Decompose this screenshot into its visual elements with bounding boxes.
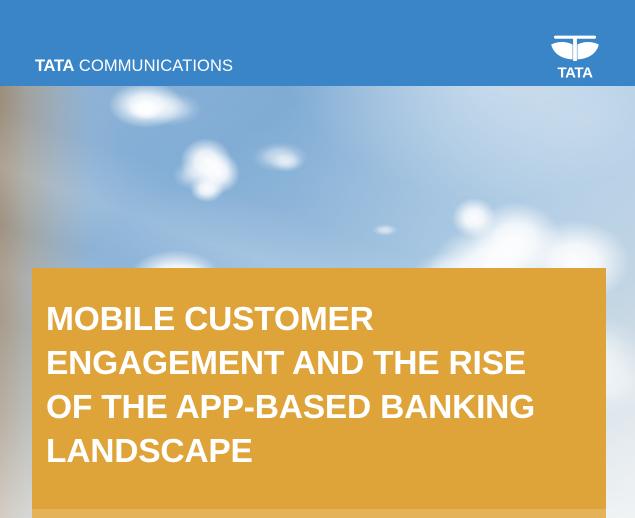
cloud xyxy=(452,198,496,238)
brand-header-bar: TATA COMMUNICATIONS TATA xyxy=(0,0,635,86)
brand-wordmark-communications: COMMUNICATIONS xyxy=(79,57,233,75)
cloud xyxy=(190,176,224,202)
brand-wordmark-tata: TATA xyxy=(35,57,74,75)
page-title: MOBILE CUSTOMER ENGAGEMENT AND THE RISE … xyxy=(46,298,596,474)
page-title-line: MOBILE CUSTOMER xyxy=(46,298,596,342)
page-title-line: LANDSCAPE xyxy=(46,430,596,474)
cloud xyxy=(128,98,162,120)
brand-wordmark: TATA COMMUNICATIONS xyxy=(35,58,233,75)
document-cover-page: TATA COMMUNICATIONS TATA MOBILE CUSTOMER… xyxy=(0,0,635,518)
cloud xyxy=(372,224,398,236)
cloud xyxy=(270,152,304,172)
svg-text:TATA: TATA xyxy=(557,65,593,81)
tata-dome-logo-icon: TATA xyxy=(548,28,602,80)
page-title-line: ENGAGEMENT AND THE RISE xyxy=(46,342,596,386)
page-title-line: OF THE APP-BASED BANKING xyxy=(46,386,596,430)
title-panel: MOBILE CUSTOMER ENGAGEMENT AND THE RISE … xyxy=(32,268,606,518)
title-panel-bottom-sheen xyxy=(32,509,606,518)
